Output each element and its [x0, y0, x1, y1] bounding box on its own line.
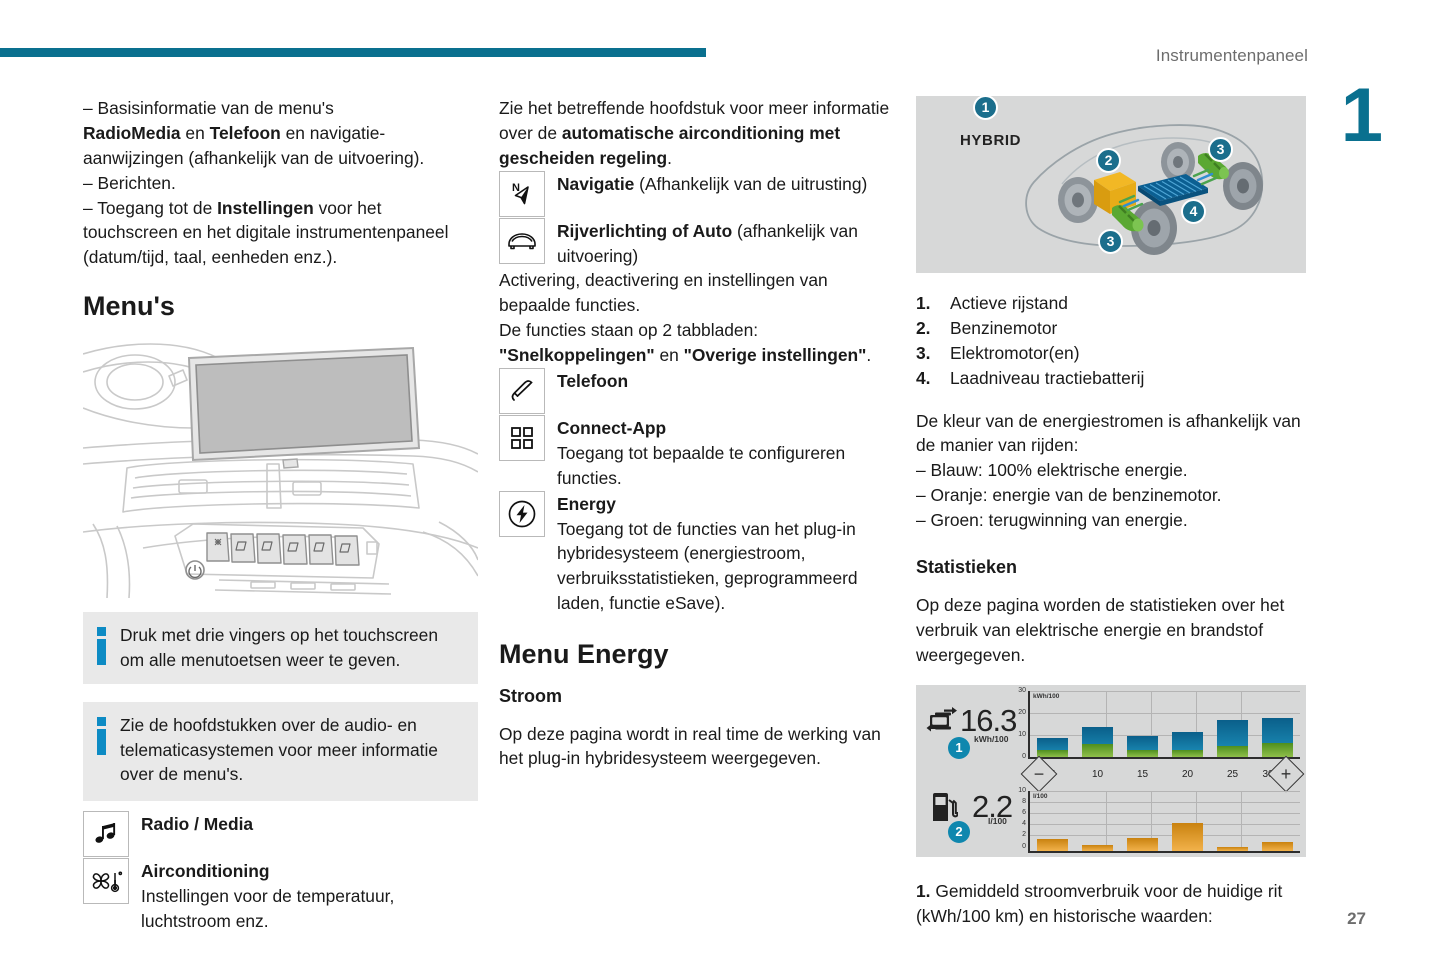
- hybrid-legend-list: 1.Actieve rijstand 2.Benzinemotor 3.Elek…: [916, 291, 1306, 391]
- stats-caption: 1. Gemiddeld stroomverbruik voor de huid…: [916, 879, 1306, 929]
- fan-thermometer-icon: [83, 858, 129, 904]
- callout-badge-3-front: 3: [1098, 229, 1123, 254]
- y-tick-30: 30: [1018, 686, 1026, 696]
- stats-badge-2: 2: [948, 821, 970, 843]
- conj-en: en: [181, 123, 210, 143]
- legend-item: 2.Benzinemotor: [916, 316, 1306, 341]
- statistieken-paragraph: Op deze pagina worden de statistieken ov…: [916, 593, 1306, 668]
- menu-entry-connect-app[interactable]: Connect-App Toegang tot bepaalde te conf…: [499, 415, 892, 491]
- legend-num: 4.: [916, 366, 931, 391]
- section-title-menu-energy: Menu Energy: [499, 640, 892, 670]
- y-tick-6: 6: [1022, 808, 1026, 818]
- caption-text: Gemiddeld stroomverbruik voor de huidige…: [916, 881, 1282, 926]
- legend-text: Benzinemotor: [950, 318, 1057, 338]
- fuel-readout-unit: l/100: [988, 815, 1007, 827]
- bar-group: [1075, 791, 1120, 851]
- statistics-screen-figure: 16.3 kWh/100 1 2.2 l/100 2: [916, 685, 1306, 857]
- subsection-title-statistieken: Statistieken: [916, 555, 1306, 581]
- info-box-text: Zie de hoofdstukken over de audio- en te…: [120, 713, 464, 788]
- tabs-end: .: [866, 345, 871, 365]
- bullet-berichten: – Berichten.: [83, 171, 478, 196]
- bullet-instellingen: – Toegang tot de Instellingen voor het t…: [83, 196, 478, 271]
- page-number: 27: [1347, 909, 1366, 929]
- menu-entry-body: Radio / Media: [141, 811, 478, 837]
- y-tick-2: 2: [1022, 830, 1026, 840]
- menu-entry-desc: Toegang tot de functies van het plug-in …: [557, 519, 858, 614]
- flow-item-oranje: – Oranje: energie van de benzinemotor.: [916, 483, 1306, 508]
- bar-group: [1165, 791, 1210, 851]
- callout-badge-2: 2: [1096, 148, 1121, 173]
- bar-group: [1255, 791, 1300, 851]
- hybrid-mode-label: HYBRID: [960, 130, 1021, 151]
- time-axis-ticks: 5 10 15 20 25 30 min: [1030, 763, 1300, 787]
- header-accent-rule: [0, 48, 706, 57]
- subsection-title-stroom: Stroom: [499, 684, 892, 710]
- tabs-conj: en: [655, 345, 684, 365]
- electric-consumption-chart: 30 20 10 0 kWh/100: [1028, 691, 1300, 759]
- energy-bolt-icon: [499, 491, 545, 537]
- column-left: – Basisinformatie van de menu's RadioMed…: [83, 96, 478, 934]
- fuel-pump-icon: [930, 791, 958, 825]
- bar-group: [1255, 691, 1300, 757]
- menu-entry-body: Connect-App Toegang tot bepaalde te conf…: [557, 415, 892, 491]
- intro-post: .: [667, 148, 672, 168]
- info-icon: [97, 717, 106, 755]
- menu-entry-desc: Toegang tot bepaalde te configureren fun…: [557, 443, 845, 488]
- menu-entry-title: Airconditioning: [141, 861, 269, 881]
- chapter-number: 1: [1341, 78, 1383, 154]
- menu-entry-body: Airconditioning Instellingen voor de tem…: [141, 858, 478, 934]
- car-front-icon: [499, 218, 545, 264]
- legend-item: 4.Laadniveau tractiebatterij: [916, 366, 1306, 391]
- legend-text: Elektromotor(en): [950, 343, 1080, 363]
- menu-entry-navigatie[interactable]: N Navigatie (Afhankelijk van de uitrusti…: [499, 171, 892, 218]
- bullet-3-pre: – Toegang tot de: [83, 198, 217, 218]
- tick-10: 10: [1075, 763, 1120, 787]
- electric-bars: [1030, 691, 1300, 757]
- navigation-compass-icon: N: [499, 171, 545, 217]
- menu-entry-title: Telefoon: [557, 371, 628, 391]
- menu-entry-title: Connect-App: [557, 418, 666, 438]
- menu-entry-rijverlichting[interactable]: Rijverlichting of Auto (afhankelijk van …: [499, 218, 892, 269]
- bullet-line-1: – Basisinformatie van de menu's: [83, 98, 334, 118]
- bar-group: [1210, 691, 1255, 757]
- zoom-in-button[interactable]: +: [1273, 761, 1299, 787]
- y-tick-10: 10: [1018, 730, 1026, 740]
- legend-item: 1.Actieve rijstand: [916, 291, 1306, 316]
- menu-entry-title: Energy: [557, 494, 616, 514]
- menu-entry-title: Radio / Media: [141, 814, 253, 834]
- app-grid-icon: [499, 415, 545, 461]
- y-tick-8: 8: [1022, 797, 1026, 807]
- manual-page: Instrumentenpaneel 1 27 – Basisinformati…: [0, 0, 1445, 963]
- music-note-icon: [83, 811, 129, 857]
- term-telefoon: Telefoon: [210, 123, 281, 143]
- callout-badge-1: 1: [973, 96, 998, 120]
- stroom-paragraph: Op deze pagina wordt in real time de wer…: [499, 722, 892, 772]
- menu-entry-body: Rijverlichting of Auto (afhankelijk van …: [557, 218, 892, 269]
- bar-group: [1165, 691, 1210, 757]
- tabbladen-names: "Snelkoppelingen" en "Overige instelling…: [499, 343, 892, 368]
- bar-group: [1120, 791, 1165, 851]
- legend-text: Laadniveau tractiebatterij: [950, 368, 1144, 388]
- menu-entry-title: Rijverlichting of Auto: [557, 221, 732, 241]
- callout-badge-4: 4: [1181, 199, 1206, 224]
- electric-readout-unit: kWh/100: [974, 733, 1009, 745]
- bar-group: [1075, 691, 1120, 757]
- y-tick-0: 0: [1022, 842, 1026, 852]
- info-box-see-chapters: Zie de hoofdstukken over de audio- en te…: [83, 702, 478, 802]
- flow-item-groen: – Groen: terugwinning van energie.: [916, 508, 1306, 533]
- caption-num: 1.: [916, 881, 931, 901]
- fuel-bars: [1030, 791, 1300, 851]
- legend-item: 3.Elektromotor(en): [916, 341, 1306, 366]
- zoom-out-button[interactable]: −: [1026, 761, 1052, 787]
- tick-25: 25: [1210, 763, 1255, 787]
- term-instellingen: Instellingen: [217, 198, 314, 218]
- section-title-menus: Menu's: [83, 292, 478, 322]
- menu-entry-desc: (Afhankelijk van de uitrusting): [634, 174, 867, 194]
- phone-handset-icon: [499, 368, 545, 414]
- hybrid-powertrain-diagram: HYBRID 1 2 3 3 4: [916, 96, 1306, 273]
- battery-charge-icon: [926, 707, 958, 737]
- y-tick-4: 4: [1022, 819, 1026, 829]
- menu-entry-body: Telefoon: [557, 368, 892, 394]
- bullet-basisinformatie: – Basisinformatie van de menu's RadioMed…: [83, 96, 478, 171]
- menu-entry-radio-media[interactable]: Radio / Media: [83, 811, 478, 858]
- statistics-readouts: 16.3 kWh/100 1 2.2 l/100 2: [926, 693, 1031, 851]
- y-tick-10: 10: [1018, 786, 1026, 796]
- tabbladen-paragraph: De functies staan op 2 tabbladen:: [499, 318, 892, 343]
- menu-entry-title: Navigatie: [557, 174, 634, 194]
- intro-airco-paragraph: Zie het betreffende hoofdstuk voor meer …: [499, 96, 892, 171]
- y-tick-20: 20: [1018, 708, 1026, 718]
- menu-entry-body: Energy Toegang tot de functies van het p…: [557, 491, 892, 616]
- menu-entry-body: Navigatie (Afhankelijk van de uitrusting…: [557, 171, 892, 197]
- tick-20: 20: [1165, 763, 1210, 787]
- activering-paragraph: Activering, deactivering en instellingen…: [499, 268, 892, 318]
- legend-num: 1.: [916, 291, 931, 316]
- fuel-consumption-chart: 10 8 6 4 2 0 l/100: [1028, 791, 1300, 853]
- callout-badge-3-rear: 3: [1208, 137, 1233, 162]
- legend-num: 3.: [916, 341, 931, 366]
- tab-overige-instellingen: "Overige instellingen": [684, 345, 867, 365]
- dashboard-touchscreen-illustration: [83, 336, 478, 598]
- zoom-out-glyph: −: [1026, 761, 1052, 787]
- consumption-charts: 30 20 10 0 kWh/100: [1028, 691, 1300, 853]
- svg-text:N: N: [512, 182, 520, 194]
- bar-group: [1210, 791, 1255, 851]
- flow-item-blauw: – Blauw: 100% elektrische energie.: [916, 458, 1306, 483]
- menu-entry-airconditioning[interactable]: Airconditioning Instellingen voor de tem…: [83, 858, 478, 934]
- info-box-text: Druk met drie vingers op het touchscreen…: [120, 623, 464, 673]
- page-title: Instrumentenpaneel: [1156, 46, 1308, 66]
- bar-group: [1120, 691, 1165, 757]
- column-middle: Zie het betreffende hoofdstuk voor meer …: [499, 96, 892, 771]
- info-icon: [97, 627, 106, 665]
- legend-text: Actieve rijstand: [950, 293, 1068, 313]
- energy-flow-intro: De kleur van de energiestromen is afhank…: [916, 409, 1306, 459]
- bar-group: [1030, 691, 1075, 757]
- stats-badge-1: 1: [948, 737, 970, 759]
- menu-entry-energy[interactable]: Energy Toegang tot de functies van het p…: [499, 491, 892, 616]
- bar-group: [1030, 791, 1075, 851]
- term-radiomedia: RadioMedia: [83, 123, 181, 143]
- column-right: HYBRID 1 2 3 3 4 1.Actieve rijstand 2.Be…: [916, 96, 1306, 929]
- info-box-touchscreen-gesture: Druk met drie vingers op het touchscreen…: [83, 612, 478, 684]
- tick-15: 15: [1120, 763, 1165, 787]
- menu-entry-desc: Instellingen voor de temperatuur, luchts…: [141, 886, 394, 931]
- legend-num: 2.: [916, 316, 931, 341]
- menu-entry-telefoon[interactable]: Telefoon: [499, 368, 892, 415]
- zoom-in-glyph: +: [1273, 761, 1299, 787]
- tab-snelkoppelingen: "Snelkoppelingen": [499, 345, 655, 365]
